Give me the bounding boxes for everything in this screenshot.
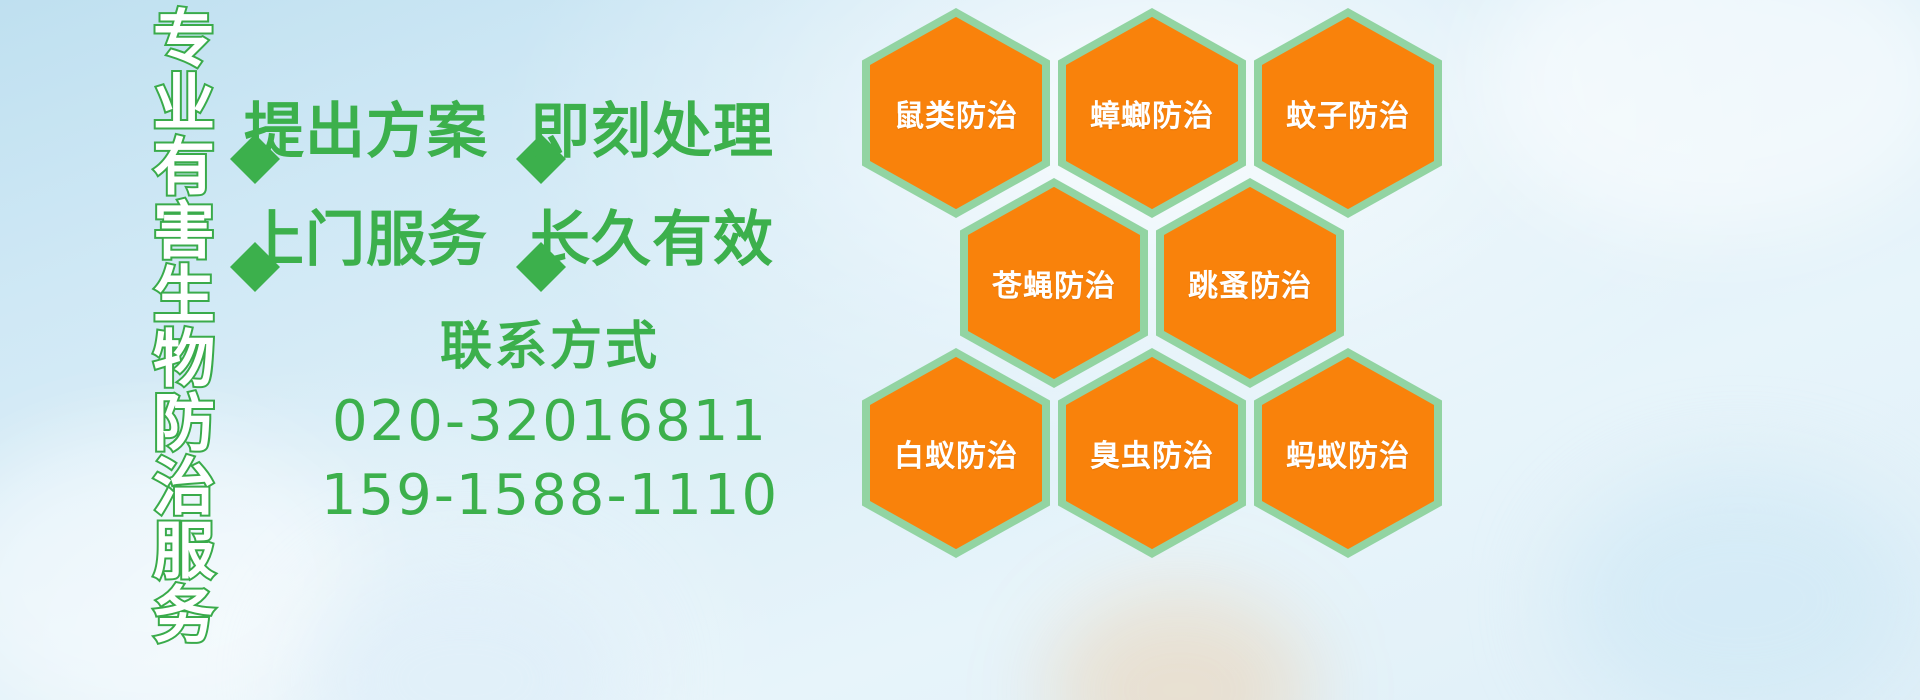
contact-block: 联系方式 020-32016811 159-1588-1110 (300, 316, 800, 533)
feature-list: 提出方案 即刻处理 上门服务 长久有效 (228, 86, 868, 286)
promo-banner: 专业有害生物防治服务 提出方案 即刻处理 上 (0, 0, 1920, 700)
feature-label: 上门服务 (244, 210, 488, 270)
contact-title: 联系方式 (300, 316, 800, 379)
feature-row: 上门服务 长久有效 (228, 194, 868, 286)
service-label: 白蚁防治 (894, 431, 1018, 475)
service-hex-termite[interactable]: 白蚁防治 (862, 348, 1050, 558)
service-label: 跳蚤防治 (1188, 261, 1312, 305)
feature-label: 即刻处理 (530, 102, 774, 162)
service-hex-ant[interactable]: 蚂蚁防治 (1254, 348, 1442, 558)
service-label: 鼠类防治 (894, 91, 1018, 135)
contact-phone-landline[interactable]: 020-32016811 (300, 385, 800, 459)
contact-phone-mobile[interactable]: 159-1588-1110 (300, 459, 800, 533)
feature-label: 长久有效 (530, 210, 774, 270)
service-hexagon-grid: 鼠类防治 蟑螂防治 蚊子防治 苍蝇防治 跳蚤防治 白蚁防治 (862, 0, 1462, 560)
background-blob (300, 560, 630, 700)
vertical-headline: 专业有害生物防治服务 (106, 6, 210, 646)
background-blob (1560, 470, 1920, 700)
feature-label: 提出方案 (244, 102, 488, 162)
service-label: 苍蝇防治 (992, 261, 1116, 305)
service-label: 蟑螂防治 (1090, 91, 1214, 135)
service-label: 蚊子防治 (1286, 91, 1410, 135)
service-label: 臭虫防治 (1090, 431, 1214, 475)
feature-row: 提出方案 即刻处理 (228, 86, 868, 178)
service-label: 蚂蚁防治 (1286, 431, 1410, 475)
background-blob (1480, 0, 1920, 240)
service-hex-bedbug[interactable]: 臭虫防治 (1058, 348, 1246, 558)
background-blob (1050, 590, 1310, 700)
